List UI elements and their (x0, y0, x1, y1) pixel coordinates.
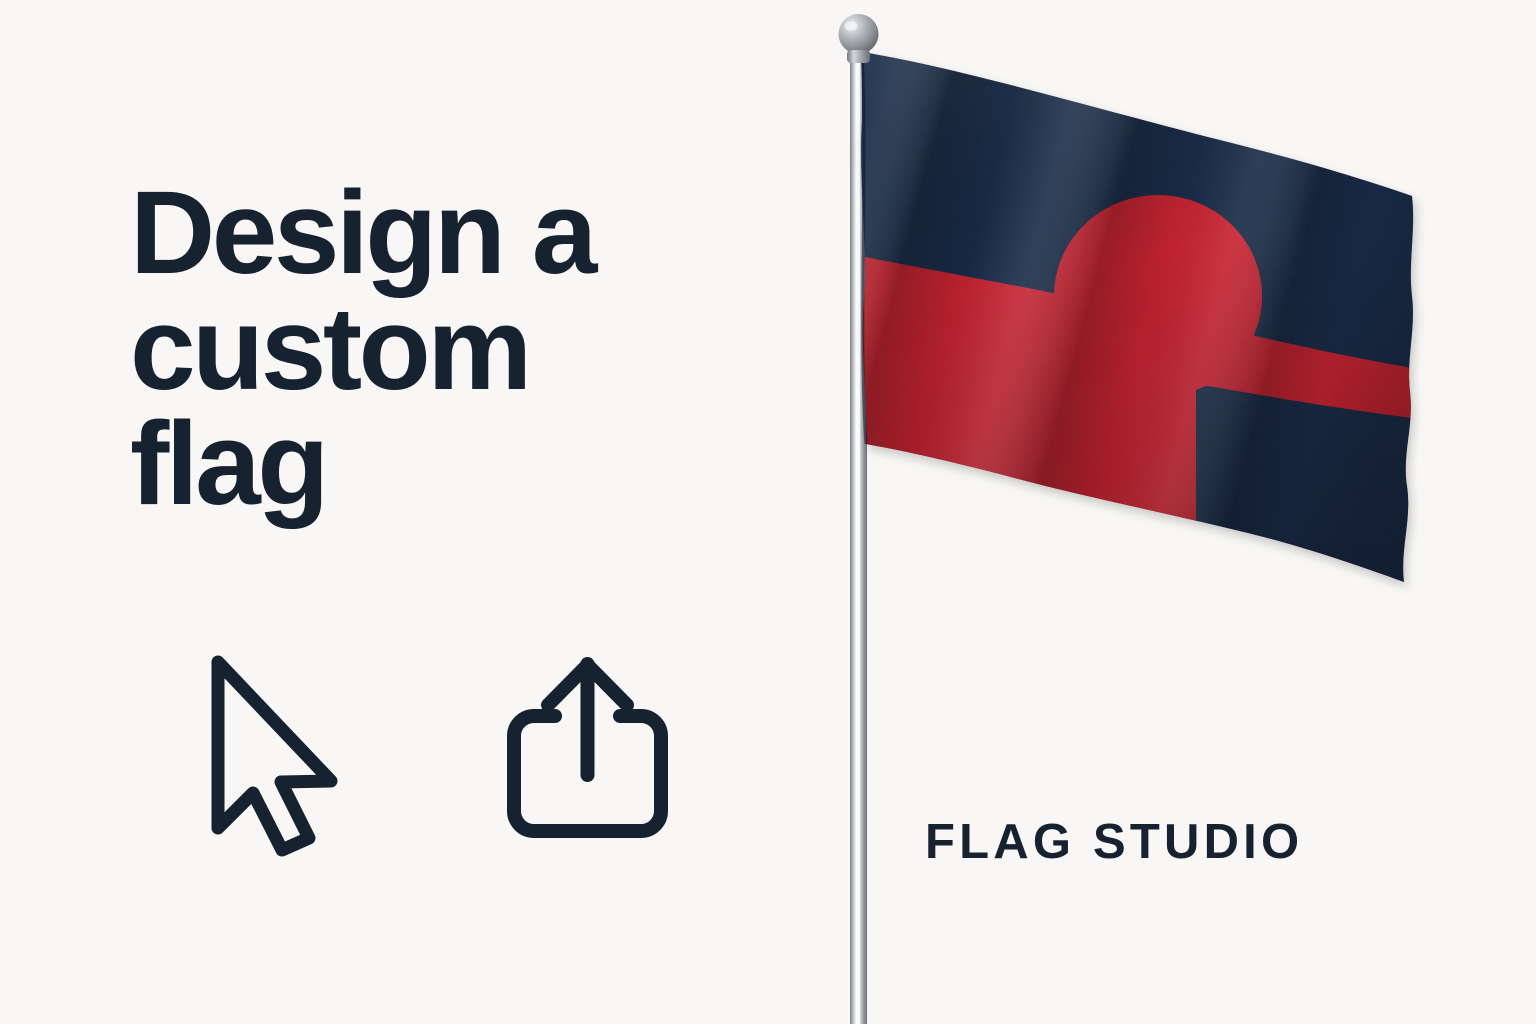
poster-canvas: Design a custom flag (0, 0, 1536, 1024)
flag-cloth (840, 30, 1460, 620)
flag-illustration (800, 0, 1536, 1024)
left-content-panel: Design a custom flag (0, 0, 800, 1024)
share-export-icon[interactable] (500, 650, 675, 845)
brand-wordmark: FLAG STUDIO (925, 814, 1303, 870)
cursor-arrow-icon[interactable] (206, 650, 356, 860)
page-title: Design a custom flag (130, 176, 770, 523)
right-visual-panel: FLAG STUDIO (800, 0, 1536, 1024)
